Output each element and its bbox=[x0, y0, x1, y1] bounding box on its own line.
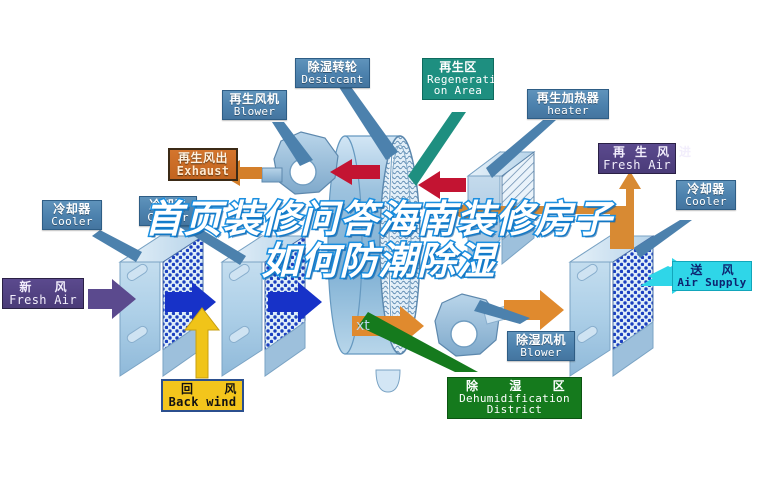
label-air-supply-en: Air Supply bbox=[677, 277, 747, 289]
arrow-dry-air-2 bbox=[504, 290, 564, 330]
label-regeneration-area-en2: on Area bbox=[427, 85, 489, 97]
dehumidification-fan bbox=[435, 294, 509, 356]
arrow-regen-hot bbox=[418, 171, 466, 199]
label-cooler-left: 冷却器 Cooler bbox=[42, 200, 102, 230]
label-regeneration-heater-cn: 再生加热器 bbox=[532, 92, 604, 105]
label-regeneration-area-cn: 再生区 bbox=[427, 61, 489, 74]
label-air-supply-cn: 送 风 bbox=[677, 264, 747, 277]
label-regeneration-heater-en: heater bbox=[532, 105, 604, 117]
label-exhaust-en: Exhaust bbox=[174, 165, 232, 178]
label-cooler-right-cn: 冷却器 bbox=[681, 183, 731, 196]
label-desiccant-wheel-en: Desiccant bbox=[300, 74, 365, 86]
label-dehumidification-blower-en: Blower bbox=[512, 347, 570, 359]
label-back-wind-en: Back wind bbox=[167, 396, 238, 409]
label-desiccant-wheel: 除湿转轮 Desiccant bbox=[295, 58, 370, 88]
label-cooler-left-en: Cooler bbox=[47, 216, 97, 228]
label-back-wind-cn: 回 风 bbox=[167, 383, 238, 396]
label-regeneration-area: 再生区 Regenerati on Area bbox=[422, 58, 494, 100]
label-dehumidification-district-en2: District bbox=[452, 404, 577, 416]
label-cooler-right-en: Cooler bbox=[681, 196, 731, 208]
label-cooler-middle-cn: 冷却器 bbox=[144, 199, 192, 212]
label-fresh-air-regen: 再生风进 Fresh Air bbox=[598, 143, 676, 174]
label-fresh-air-in-cn: 新 风 bbox=[7, 281, 79, 294]
label-fresh-air-regen-en: Fresh Air bbox=[603, 159, 671, 172]
label-back-wind: 回 风 Back wind bbox=[161, 379, 244, 412]
diagram-artwork: xt bbox=[0, 0, 757, 488]
label-desiccant-wheel-cn: 除湿转轮 bbox=[300, 61, 365, 74]
label-regeneration-heater: 再生加热器 heater bbox=[527, 89, 609, 119]
label-dehumidification-district-cn: 除 湿 区 bbox=[452, 380, 577, 393]
dehumidifier-diagram: xt 除湿转轮 Desiccant 再生风机 Blower 再生区 Regene… bbox=[0, 0, 757, 488]
label-regeneration-blower: 再生风机 Blower bbox=[222, 90, 287, 120]
label-cooler-right: 冷却器 Cooler bbox=[676, 180, 736, 210]
label-dehumidification-blower-cn: 除湿风机 bbox=[512, 334, 570, 347]
label-exhaust-cn: 再生风出 bbox=[174, 152, 232, 165]
label-cooler-middle-en: Cooler bbox=[144, 212, 192, 224]
label-dehumidification-blower: 除湿风机 Blower bbox=[507, 331, 575, 361]
label-regeneration-blower-en: Blower bbox=[227, 106, 282, 118]
label-air-supply: 送 风 Air Supply bbox=[672, 261, 752, 291]
label-cooler-middle: 冷却器 Cooler bbox=[139, 196, 197, 226]
label-cooler-left-cn: 冷却器 bbox=[47, 203, 97, 216]
watermark-text: xt bbox=[356, 318, 370, 334]
label-fresh-air-regen-cn: 再生风进 bbox=[603, 146, 671, 159]
label-regeneration-blower-cn: 再生风机 bbox=[227, 93, 282, 106]
label-fresh-air-in: 新 风 Fresh Air bbox=[2, 278, 84, 309]
label-exhaust: 再生风出 Exhaust bbox=[168, 148, 238, 181]
label-fresh-air-in-en: Fresh Air bbox=[7, 294, 79, 307]
label-dehumidification-district: 除 湿 区 Dehumidification District bbox=[447, 377, 582, 419]
